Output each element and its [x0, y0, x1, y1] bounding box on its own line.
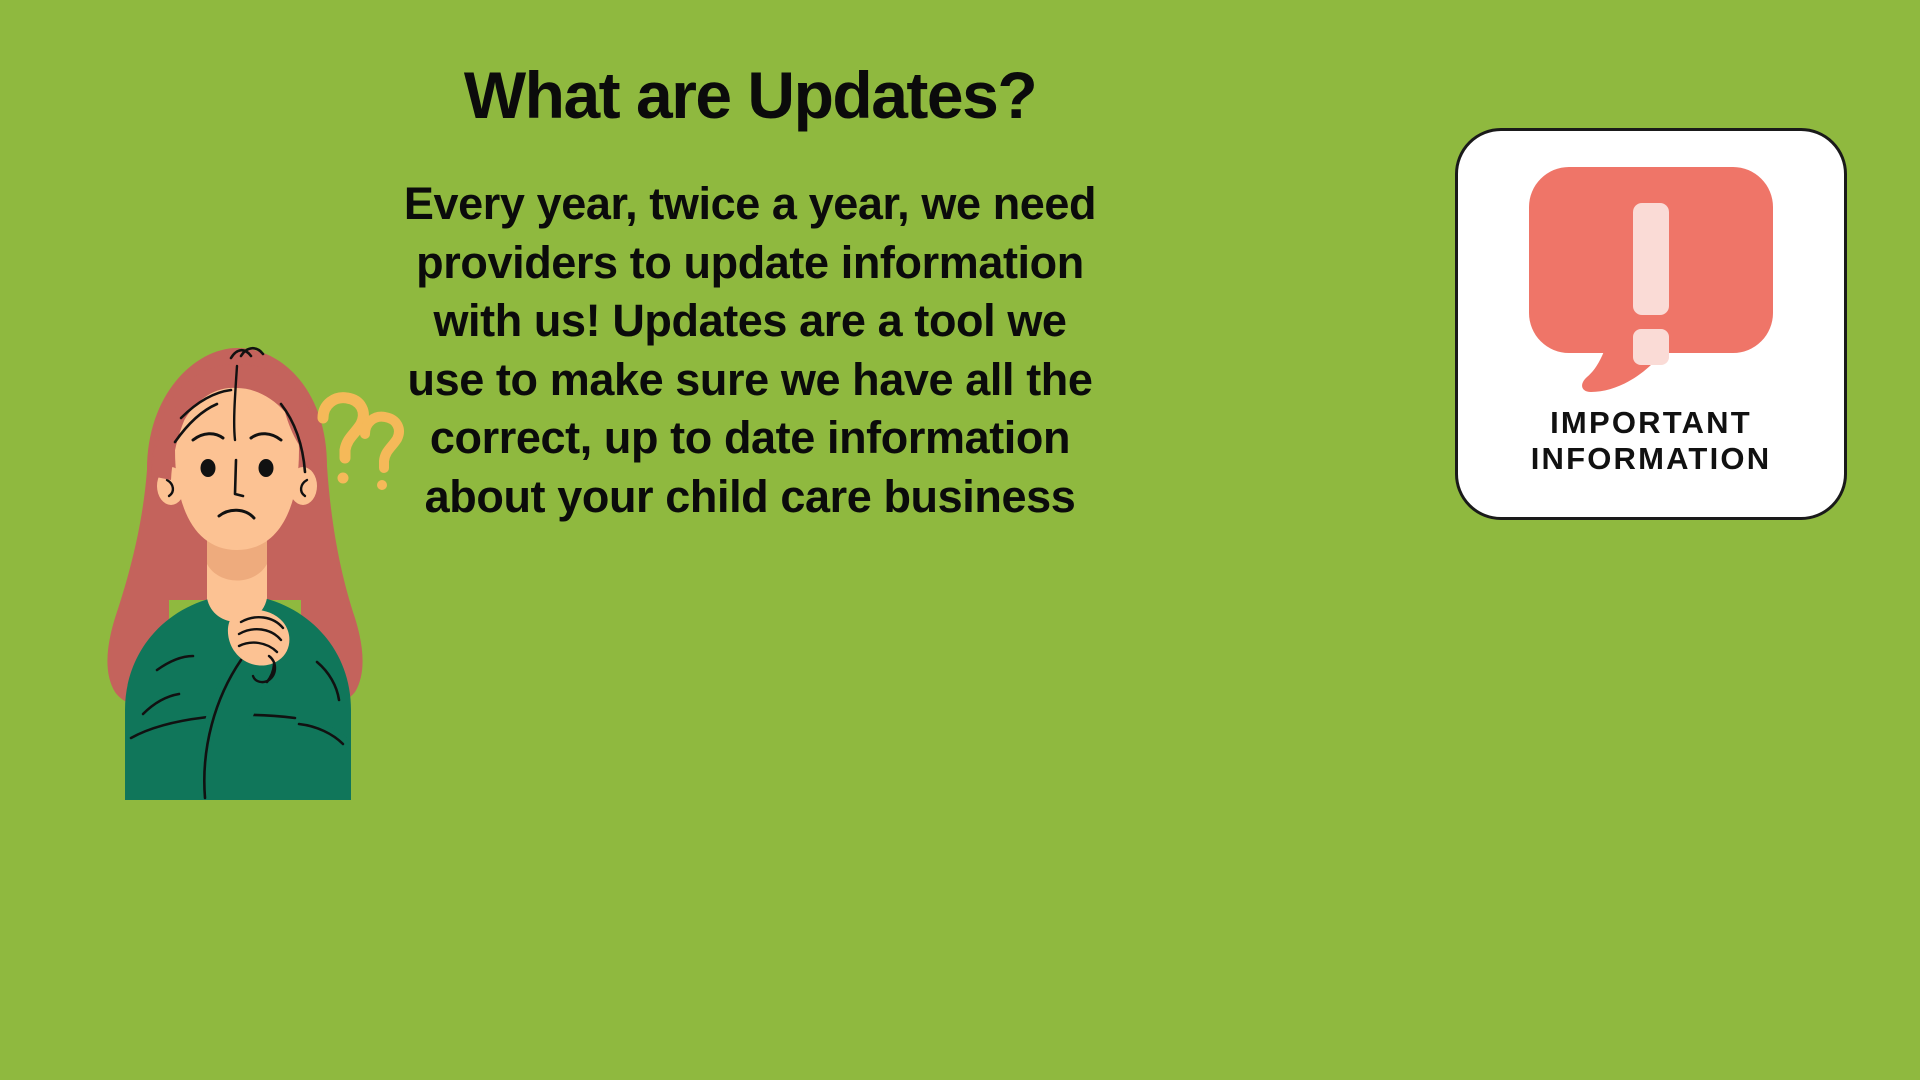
- text-column: What are Updates? Every year, twice a ye…: [400, 60, 1100, 526]
- body-paragraph: Every year, twice a year, we need provid…: [400, 175, 1100, 526]
- thinking-woman-illustration: [55, 300, 415, 800]
- badge-caption: IMPORTANT INFORMATION: [1531, 405, 1772, 477]
- exclamation-speech-bubble-icon: [1525, 163, 1777, 395]
- slide-canvas: What are Updates? Every year, twice a ye…: [0, 0, 1920, 1080]
- badge-caption-line-2: INFORMATION: [1531, 441, 1772, 477]
- badge-caption-line-1: IMPORTANT: [1531, 405, 1772, 441]
- page-title: What are Updates?: [400, 60, 1100, 131]
- question-marks: [323, 398, 399, 490]
- important-information-badge: IMPORTANT INFORMATION: [1455, 128, 1847, 520]
